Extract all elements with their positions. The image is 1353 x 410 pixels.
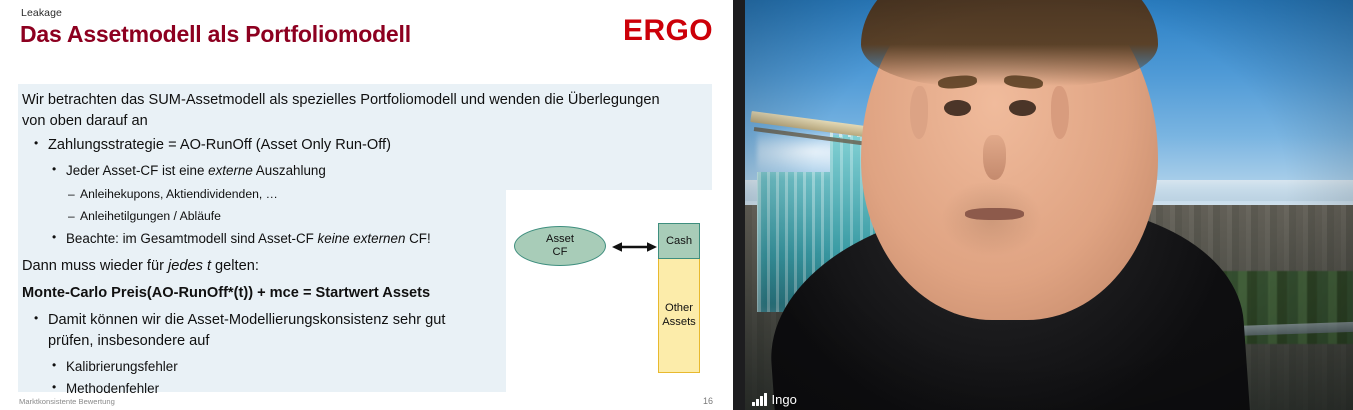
other-assets-box: Other Assets: [658, 259, 700, 373]
b2-post: Auszahlung: [253, 163, 326, 178]
dann-italic: jedes t: [168, 258, 211, 274]
bullet-level1-zahlungsstrategie: Zahlungsstrategie = AO-RunOff (Asset Onl…: [48, 138, 391, 153]
asset-cf-diagram: Asset CF Cash Other Assets: [506, 190, 714, 392]
asset-cf-label-line1: Asset: [546, 233, 574, 246]
presentation-slide: Leakage Das Assetmodell als Portfoliomod…: [0, 0, 733, 410]
person-hair: [861, 0, 1159, 86]
bullet-level2-asset-cf: Jeder Asset-CF ist eine externe Auszahlu…: [66, 164, 326, 178]
slide-footer-text: Marktkonsistente Bewertung: [19, 397, 115, 406]
b2-italic: externe: [208, 163, 253, 178]
screen-root: Leakage Das Assetmodell als Portfoliomod…: [0, 0, 1353, 410]
dash-item-anleihetilgungen: Anleihetilgungen / Abläufe: [80, 210, 221, 223]
person-ear-left: [910, 86, 928, 138]
cash-box: Cash: [658, 223, 700, 259]
bullet-kalibrierungsfehler: Kalibrierungsfehler: [66, 360, 178, 374]
double-arrow-icon: [612, 241, 657, 253]
bullet-level2-beachte: Beachte: im Gesamtmodell sind Asset-CF k…: [66, 232, 431, 246]
participant-person: [745, 0, 1353, 410]
lead-line-1: Wir betrachten das SUM-Assetmodell als s…: [22, 93, 660, 108]
formula-line: Monte-Carlo Preis(AO-RunOff*(t)) + mce =…: [22, 286, 430, 301]
bullet-damit-line1: Damit können wir die Asset-Modellierungs…: [48, 313, 445, 328]
other-assets-line1: Other: [665, 302, 693, 315]
person-mouth: [965, 208, 1025, 220]
participant-name-badge: Ingo: [752, 393, 797, 406]
dann-muss-line: Dann muss wieder für jedes t gelten:: [22, 259, 259, 274]
b3-pre: Beachte: im Gesamtmodell sind Asset-CF: [66, 231, 318, 246]
bullet-damit-line2: prüfen, insbesondere auf: [48, 334, 209, 349]
dann-pre: Dann muss wieder für: [22, 258, 168, 274]
bullet-methodenfehler: Methodenfehler: [66, 382, 159, 396]
person-eye-right: [1009, 100, 1036, 116]
ergo-logo: ERGO: [623, 14, 713, 48]
b2-pre: Jeder Asset-CF ist eine: [66, 163, 208, 178]
slide-kicker: Leakage: [21, 7, 62, 19]
participant-name: Ingo: [772, 393, 797, 406]
b3-post: CF!: [405, 231, 430, 246]
b3-italic: keine externen: [318, 231, 406, 246]
signal-bars-icon: [752, 393, 767, 406]
panel-divider: [733, 0, 745, 410]
dann-post: gelten:: [211, 258, 259, 274]
person-ear-right: [1051, 86, 1069, 138]
dash-item-anleihekupons: Anleihekupons, Aktiendividenden, …: [80, 188, 278, 201]
slide-page-number: 16: [703, 396, 713, 406]
video-participant-tile[interactable]: Ingo: [745, 0, 1353, 410]
other-assets-line2: Assets: [662, 316, 696, 329]
slide-title: Das Assetmodell als Portfoliomodell: [20, 21, 411, 48]
asset-cf-label-line2: CF: [553, 246, 568, 259]
person-nose: [983, 135, 1007, 180]
asset-stack: Cash Other Assets: [658, 223, 700, 373]
lead-line-2: von oben darauf an: [22, 114, 148, 129]
asset-cf-ellipse: Asset CF: [514, 226, 606, 266]
person-eye-left: [944, 100, 971, 116]
